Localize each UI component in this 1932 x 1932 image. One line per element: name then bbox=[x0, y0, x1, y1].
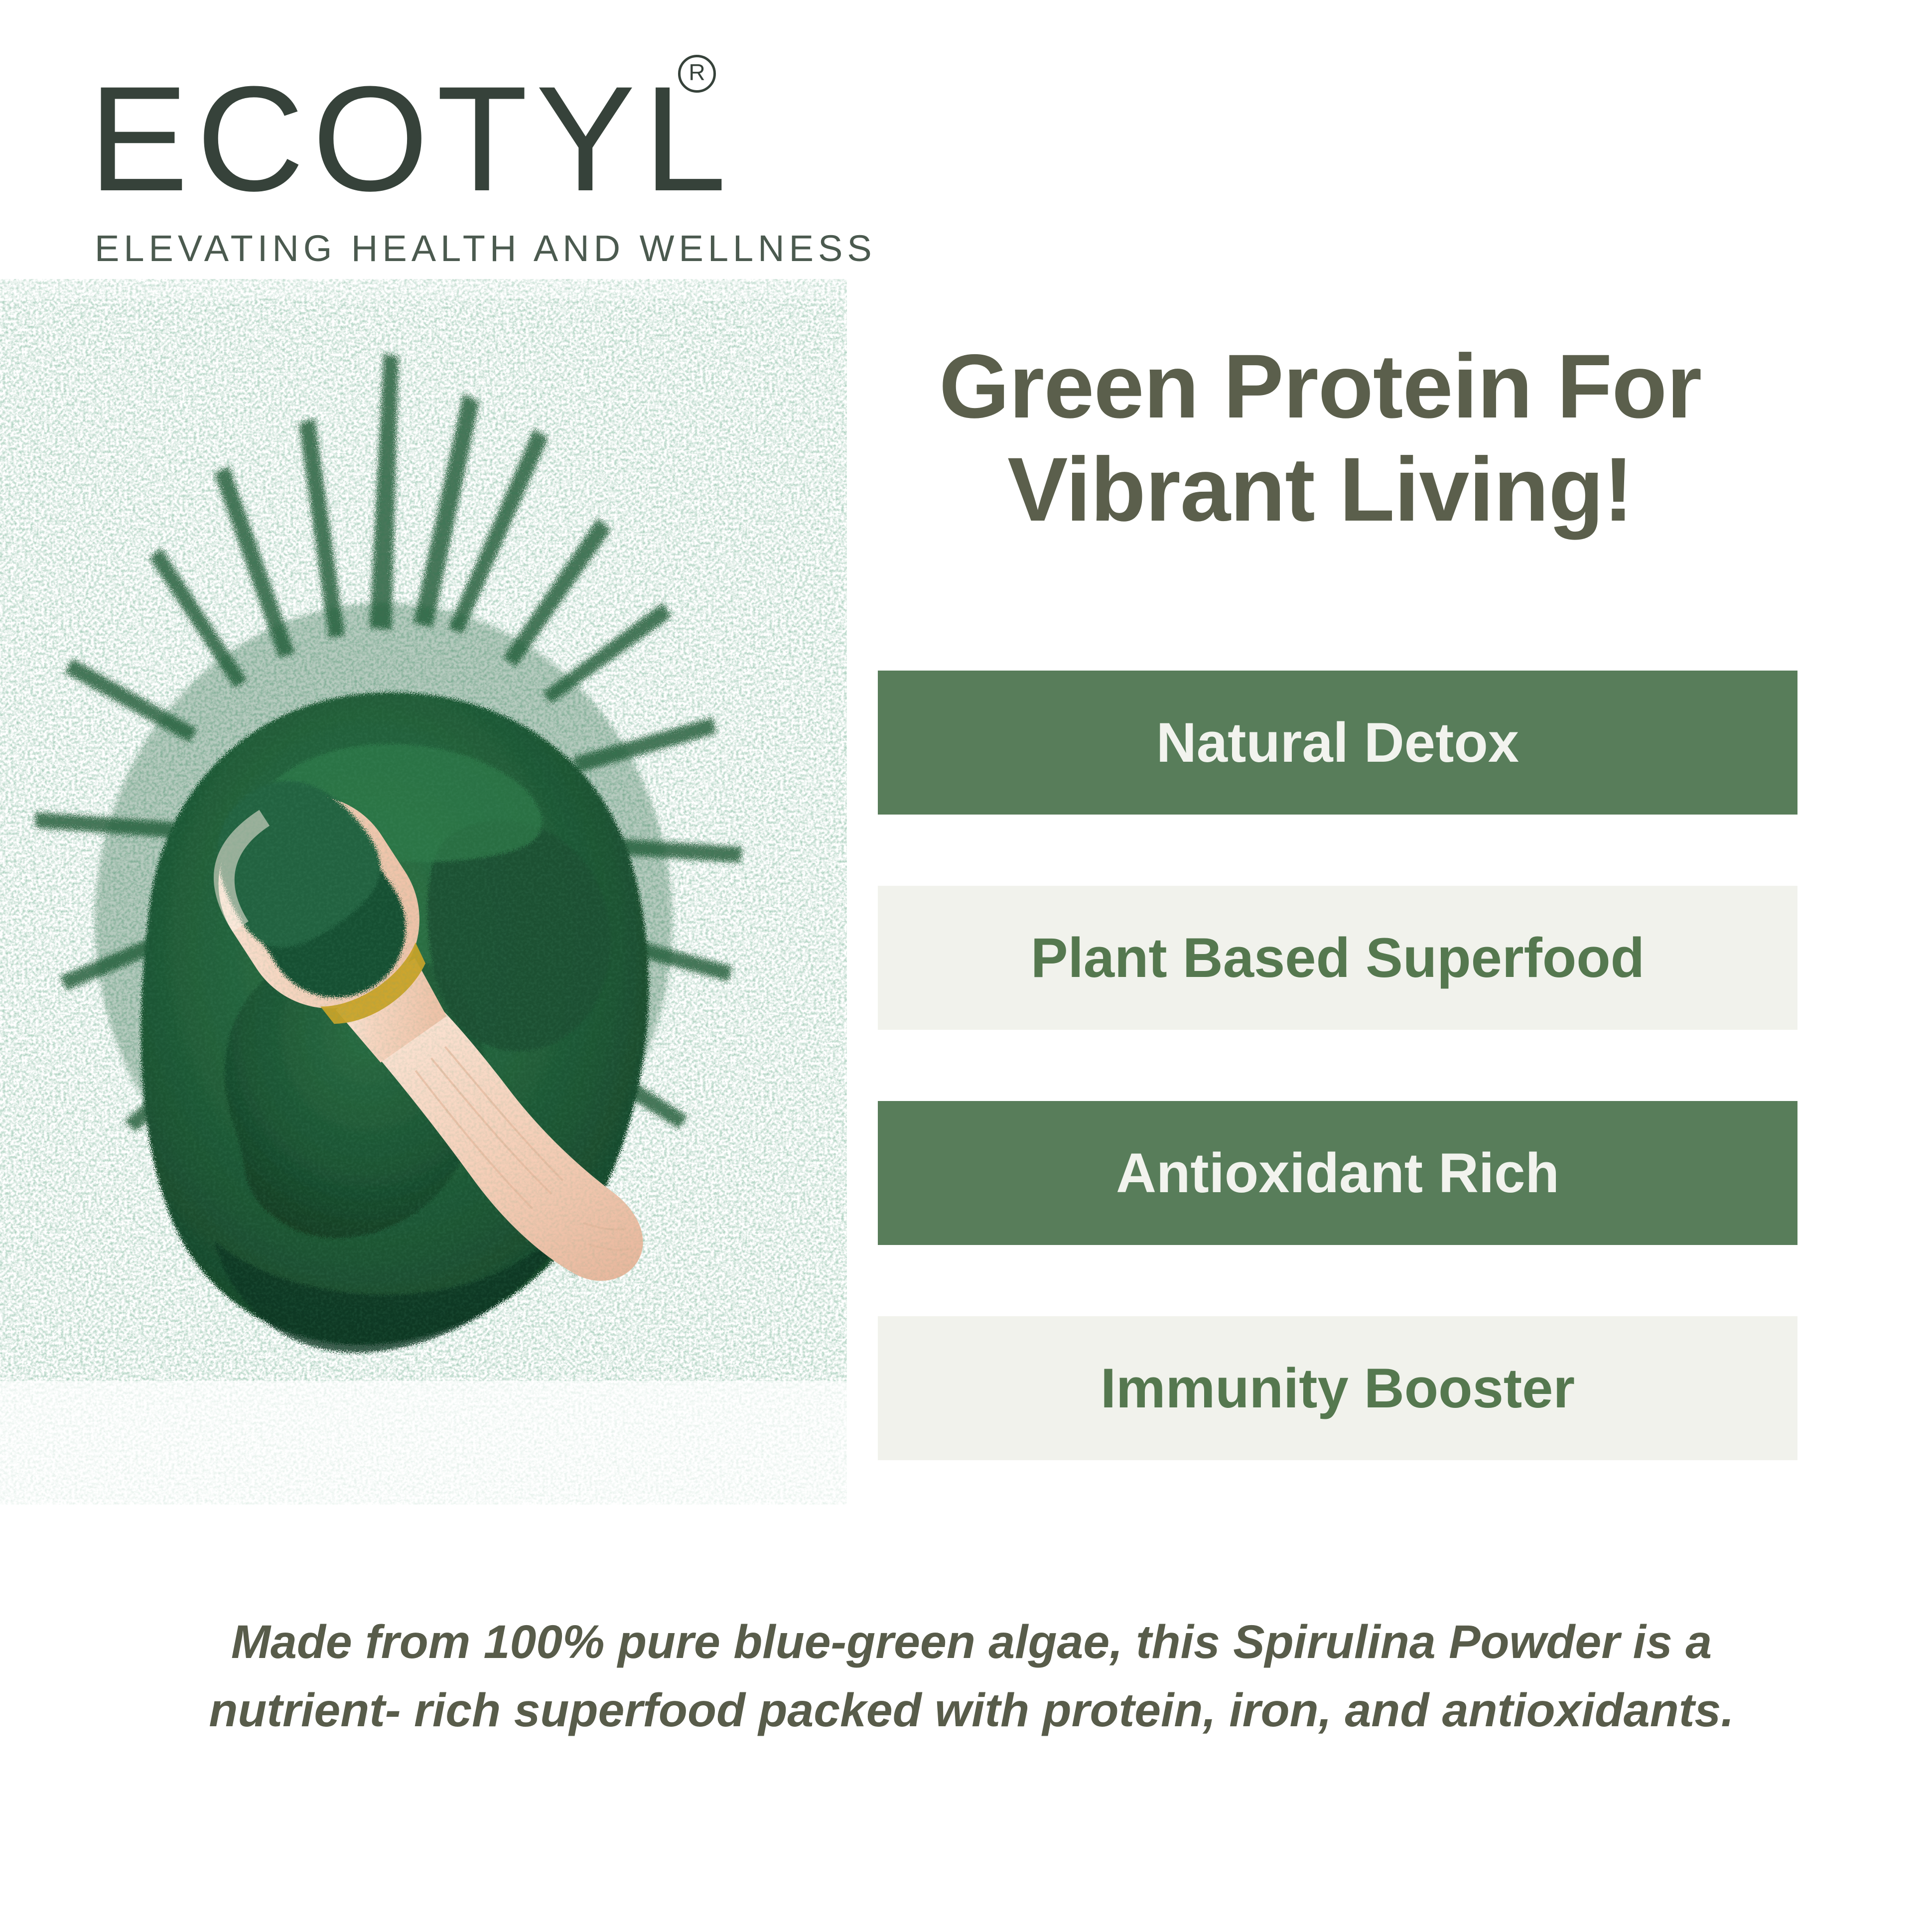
feature-bar-plant-based-superfood[interactable]: Plant Based Superfood bbox=[878, 886, 1797, 1030]
feature-bar-label: Plant Based Superfood bbox=[1031, 926, 1645, 990]
logo-tagline: ELEVATING HEALTH AND WELLNESS bbox=[95, 227, 746, 270]
feature-bar-spacer bbox=[878, 815, 1797, 886]
feature-bar-label: Antioxidant Rich bbox=[1116, 1141, 1559, 1205]
headline: Green Protein For Vibrant Living! bbox=[817, 335, 1823, 542]
feature-bar-label: Immunity Booster bbox=[1101, 1356, 1575, 1420]
spirulina-powder-illustration bbox=[0, 279, 847, 1505]
feature-bar-list: Natural Detox Plant Based Superfood Anti… bbox=[878, 671, 1797, 1460]
logo-wordmark-row: ECOTYL R bbox=[89, 64, 746, 213]
brand-logo: ECOTYL R ELEVATING HEALTH AND WELLNESS bbox=[89, 64, 746, 270]
foreground-dust-specks bbox=[10, 538, 747, 1335]
product-image-spirulina-powder bbox=[0, 279, 847, 1505]
registered-trademark-icon: R bbox=[678, 55, 716, 93]
headline-line-1: Green Protein For bbox=[817, 335, 1823, 438]
product-description: Made from 100% pure blue-green algae, th… bbox=[164, 1608, 1779, 1745]
headline-line-2: Vibrant Living! bbox=[817, 438, 1823, 541]
feature-bar-spacer bbox=[878, 1245, 1797, 1316]
description-line-2: rich superfood packed with protein, iron… bbox=[414, 1684, 1734, 1737]
feature-bar-immunity-booster[interactable]: Immunity Booster bbox=[878, 1316, 1797, 1460]
banner-canvas: ECOTYL R ELEVATING HEALTH AND WELLNESS bbox=[0, 0, 1932, 1932]
logo-wordmark: ECOTYL bbox=[89, 64, 734, 213]
feature-bar-label: Natural Detox bbox=[1156, 710, 1519, 775]
feature-bar-antioxidant-rich[interactable]: Antioxidant Rich bbox=[878, 1101, 1797, 1245]
feature-bar-spacer bbox=[878, 1030, 1797, 1101]
feature-bar-natural-detox[interactable]: Natural Detox bbox=[878, 671, 1797, 815]
